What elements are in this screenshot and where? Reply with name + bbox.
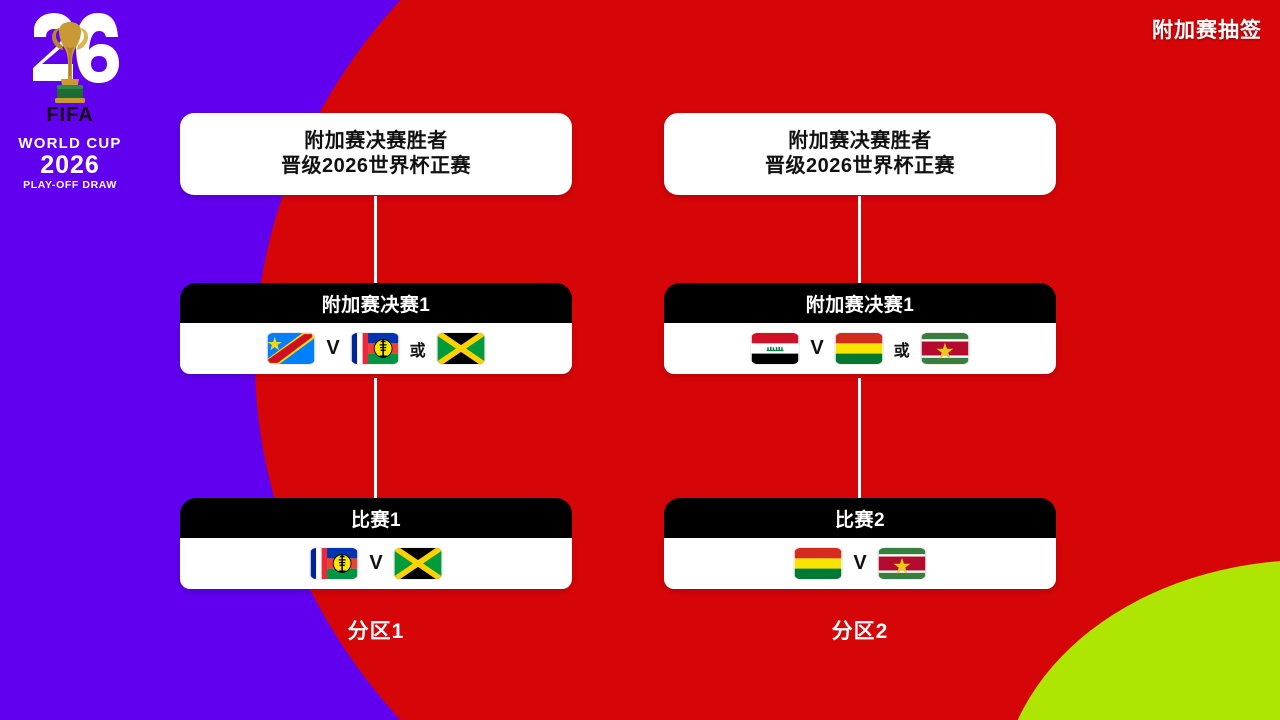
semifinal-box-bracket2[interactable]: 比赛2 V — [664, 498, 1056, 589]
versus-label: V — [369, 552, 382, 575]
zone-label-bracket1: 分区1 — [180, 615, 572, 645]
semifinal-teams-bracket2: V — [664, 538, 1056, 589]
qualifier-line-1: 附加赛决赛胜者 — [304, 129, 448, 154]
svg-text:FIFA: FIFA — [46, 104, 93, 126]
zone-label-bracket2: 分区2 — [664, 615, 1056, 645]
connector-line-bracket1-lower — [374, 378, 377, 503]
semifinal-title-bracket2: 比赛2 — [664, 498, 1056, 538]
versus-label: V — [326, 337, 339, 360]
or-label: 或 — [894, 337, 910, 361]
playoff-final-teams-bracket2: V 或 — [664, 323, 1056, 374]
connector-line-bracket1-upper — [374, 196, 377, 288]
qualifier-card-bracket2: 附加赛决赛胜者 晋级2026世界杯正赛 — [664, 113, 1056, 195]
fifa-world-cup-2026-logo: FIFA WORLD CUP 2026 PLAY-OFF DRAW — [16, 8, 124, 194]
semifinal-title-bracket1: 比赛1 — [180, 498, 572, 538]
connector-line-bracket2-upper — [858, 196, 861, 288]
playoff-final-box-bracket1[interactable]: 附加赛决赛1 V — [180, 283, 572, 374]
playoff-final-title-bracket1: 附加赛决赛1 — [180, 283, 572, 323]
qualifier-line-2: 晋级2026世界杯正赛 — [281, 154, 471, 179]
svg-text:2026: 2026 — [40, 151, 100, 179]
flag-iraq — [751, 333, 799, 364]
flag-bolivia — [835, 333, 883, 364]
qualifier-card-bracket1: 附加赛决赛胜者 晋级2026世界杯正赛 — [180, 113, 572, 195]
playoff-final-teams-bracket1: V — [180, 323, 572, 374]
playoff-final-box-bracket2[interactable]: 附加赛决赛1 V — [664, 283, 1056, 374]
flag-suriname — [921, 333, 969, 364]
flag-jamaica — [437, 333, 485, 364]
flag-bolivia — [794, 548, 842, 579]
flag-new-caledonia — [351, 333, 399, 364]
semifinal-teams-bracket1: V — [180, 538, 572, 589]
background-lime-fill — [1180, 640, 1280, 720]
flag-dr-congo — [267, 333, 315, 364]
versus-label: V — [853, 552, 866, 575]
qualifier-line-1: 附加赛决赛胜者 — [788, 129, 932, 154]
svg-text:PLAY-OFF DRAW: PLAY-OFF DRAW — [23, 179, 117, 191]
screenshot-stage: FIFA WORLD CUP 2026 PLAY-OFF DRAW 附加赛抽签 … — [0, 0, 1280, 720]
svg-text:WORLD CUP: WORLD CUP — [18, 135, 121, 152]
page-title: 附加赛抽签 — [1152, 14, 1262, 44]
or-label: 或 — [410, 337, 426, 361]
flag-new-caledonia — [310, 548, 358, 579]
playoff-final-title-bracket2: 附加赛决赛1 — [664, 283, 1056, 323]
connector-line-bracket2-lower — [858, 378, 861, 503]
flag-suriname — [878, 548, 926, 579]
qualifier-line-2: 晋级2026世界杯正赛 — [765, 154, 955, 179]
versus-label: V — [810, 337, 823, 360]
flag-jamaica — [394, 548, 442, 579]
semifinal-box-bracket1[interactable]: 比赛1 — [180, 498, 572, 589]
